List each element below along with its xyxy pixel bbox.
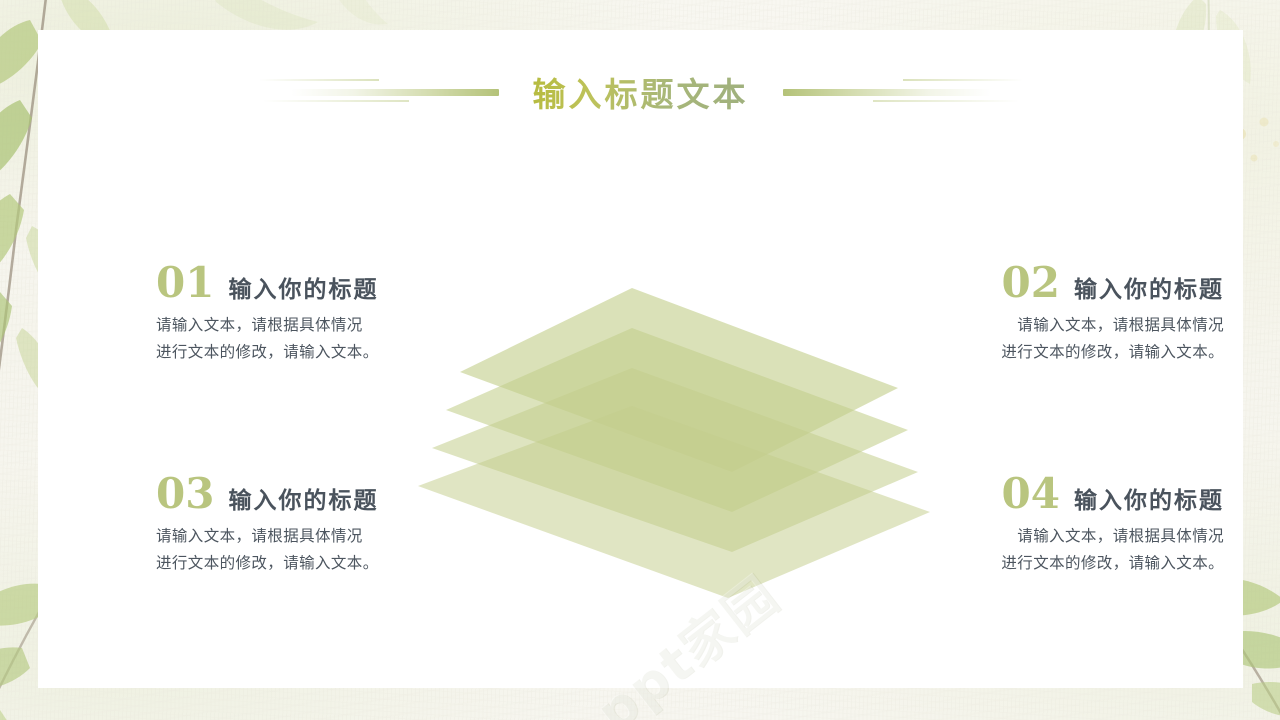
block-title: 输入你的标题 bbox=[228, 270, 378, 304]
block-body: 请输入文本，请根据具体情况 进行文本的修改，请输入文本。 bbox=[156, 523, 486, 577]
block-body-line-2: 进行文本的修改，请输入文本。 bbox=[894, 550, 1224, 577]
decoration-thin-line-bottom bbox=[873, 100, 1019, 102]
slide-canvas: 输入标题文本 ppt家园 01 bbox=[0, 0, 1280, 720]
block-number: 03 bbox=[156, 473, 214, 515]
block-number: 01 bbox=[156, 262, 214, 304]
decoration-thin-line-top bbox=[903, 79, 1023, 81]
decoration-main-bar bbox=[291, 89, 499, 96]
block-heading-row: 01 输入你的标题 bbox=[156, 262, 486, 304]
block-body: 请输入文本，请根据具体情况 进行文本的修改，请输入文本。 bbox=[894, 312, 1224, 366]
content-block-02: 02 输入你的标题 请输入文本，请根据具体情况 进行文本的修改，请输入文本。 bbox=[894, 262, 1224, 366]
block-title: 输入你的标题 bbox=[1074, 481, 1224, 515]
content-block-01: 01 输入你的标题 请输入文本，请根据具体情况 进行文本的修改，请输入文本。 bbox=[156, 262, 486, 366]
block-number: 02 bbox=[1002, 262, 1060, 304]
block-heading-row: 04 输入你的标题 bbox=[894, 473, 1224, 515]
block-heading-row: 03 输入你的标题 bbox=[156, 473, 486, 515]
block-number: 04 bbox=[1002, 473, 1060, 515]
title-decoration-left bbox=[291, 75, 499, 109]
decoration-thin-line-top bbox=[259, 79, 379, 81]
title-row: 输入标题文本 bbox=[38, 62, 1243, 122]
block-body: 请输入文本，请根据具体情况 进行文本的修改，请输入文本。 bbox=[894, 523, 1224, 577]
content-block-04: 04 输入你的标题 请输入文本，请根据具体情况 进行文本的修改，请输入文本。 bbox=[894, 473, 1224, 577]
title-decoration-right bbox=[783, 75, 991, 109]
decoration-main-bar bbox=[783, 89, 991, 96]
page-title: 输入标题文本 bbox=[533, 68, 749, 116]
block-title: 输入你的标题 bbox=[1074, 270, 1224, 304]
decoration-thin-line-bottom bbox=[263, 100, 409, 102]
block-body-line-2: 进行文本的修改，请输入文本。 bbox=[894, 339, 1224, 366]
content-block-03: 03 输入你的标题 请输入文本，请根据具体情况 进行文本的修改，请输入文本。 bbox=[156, 473, 486, 577]
block-body-line-1: 请输入文本，请根据具体情况 bbox=[156, 312, 486, 339]
content-card: 输入标题文本 ppt家园 01 bbox=[38, 30, 1243, 688]
block-body: 请输入文本，请根据具体情况 进行文本的修改，请输入文本。 bbox=[156, 312, 486, 366]
block-body-line-2: 进行文本的修改，请输入文本。 bbox=[156, 339, 486, 366]
layered-stack-diagram: ppt家园 bbox=[406, 280, 958, 610]
block-body-line-2: 进行文本的修改，请输入文本。 bbox=[156, 550, 486, 577]
block-body-line-1: 请输入文本，请根据具体情况 bbox=[894, 523, 1224, 550]
block-body-line-1: 请输入文本，请根据具体情况 bbox=[894, 312, 1224, 339]
block-heading-row: 02 输入你的标题 bbox=[894, 262, 1224, 304]
block-body-line-1: 请输入文本，请根据具体情况 bbox=[156, 523, 486, 550]
block-title: 输入你的标题 bbox=[228, 481, 378, 515]
